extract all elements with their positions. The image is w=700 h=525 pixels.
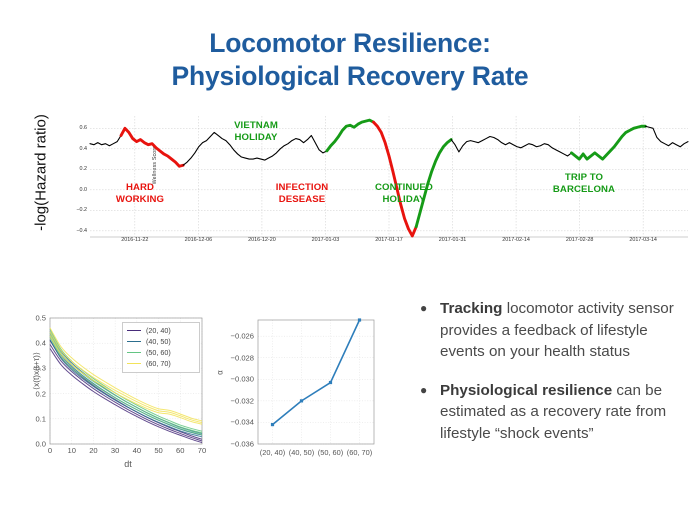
annotation-vietnam-holiday: VIETNAM HOLIDAY xyxy=(214,120,298,143)
acf-legend-item: (40, 50) xyxy=(123,336,199,347)
acf-legend-swatch xyxy=(127,330,141,332)
annotation-hard-working: HARD WORKING xyxy=(102,182,178,205)
acf-legend-label: (60, 70) xyxy=(146,359,171,368)
acf-y-tick: 0.5 xyxy=(14,314,46,323)
alpha-chart-panel: α −0.026−0.028−0.030−0.032−0.034−0.036 (… xyxy=(212,308,380,480)
alpha-y-tick: −0.028 xyxy=(212,353,254,362)
wellness-y-tick: −0.4 xyxy=(47,228,87,234)
wellness-y-tick: −0.2 xyxy=(47,207,87,213)
acf-legend-item: (20, 40) xyxy=(123,325,199,336)
bullet-marker-icon: ● xyxy=(418,298,440,363)
acf-legend-swatch xyxy=(127,363,141,365)
acf-legend-label: (40, 50) xyxy=(146,337,171,346)
annotation-continued-holiday: CONTINUED HOLIDAY xyxy=(356,182,452,205)
acf-x-tick: 0 xyxy=(38,446,62,455)
wellness-y-tick: 0.2 xyxy=(47,166,87,172)
wellness-x-tick: 2017-02-28 xyxy=(550,237,610,243)
acf-x-tick: 20 xyxy=(81,446,105,455)
wellness-x-tick: 2016-11-22 xyxy=(105,237,165,243)
bullet-lead: Tracking xyxy=(440,300,502,317)
wellness-x-tick: 2017-01-03 xyxy=(295,237,355,243)
acf-y-tick: 0.1 xyxy=(14,414,46,423)
wellness-x-tick: 2016-12-20 xyxy=(232,237,292,243)
hazard-ratio-axis-label: -log(Hazard ratio) xyxy=(33,103,50,243)
acf-y-tick: 0.3 xyxy=(14,364,46,373)
bullet-item: ● Tracking locomotor activity sensor pro… xyxy=(418,298,686,363)
autocorrelation-chart-panel: ⟨x(t)x(t+τ)⟩ dt 0.00.10.20.30.40.5 01020… xyxy=(14,308,210,480)
acf-legend: (20, 40)(40, 50)(50, 60)(60, 70) xyxy=(122,322,200,373)
alpha-y-tick: −0.030 xyxy=(212,375,254,384)
acf-x-tick: 40 xyxy=(125,446,149,455)
alpha-gridlines xyxy=(258,320,374,444)
bullet-list: ● Tracking locomotor activity sensor pro… xyxy=(418,298,686,461)
wellness-y-tick: 0.6 xyxy=(47,125,87,131)
slide-title: Locomotor Resilience: Physiological Reco… xyxy=(0,27,700,93)
wellness-chart-panel: -log(Hazard ratio) Wellness Score 0.60.4… xyxy=(18,112,690,260)
wellness-y-tick: 0.4 xyxy=(47,146,87,152)
wellness-x-tick: 2017-01-31 xyxy=(423,237,483,243)
wellness-x-tick: 2016-12-06 xyxy=(168,237,228,243)
annotation-trip-to-barcelona: TRIP TO BARCELONA xyxy=(536,172,632,195)
wellness-y-tick: 0.0 xyxy=(47,187,87,193)
alpha-line-series xyxy=(271,318,361,426)
acf-legend-swatch xyxy=(127,341,141,343)
acf-x-tick: 70 xyxy=(190,446,214,455)
bullet-item: ● Physiological resilience can be estima… xyxy=(418,380,686,445)
acf-x-tick: 50 xyxy=(147,446,171,455)
alpha-y-tick: −0.032 xyxy=(212,396,254,405)
title-line-2: Physiological Recovery Rate xyxy=(0,60,700,93)
acf-legend-label: (50, 60) xyxy=(146,348,171,357)
wellness-x-tick: 2017-02-14 xyxy=(486,237,546,243)
wellness-x-tick: 2017-01-17 xyxy=(359,237,419,243)
alpha-y-tick: −0.026 xyxy=(212,332,254,341)
acf-x-tick: 30 xyxy=(103,446,127,455)
bullet-text: Tracking locomotor activity sensor provi… xyxy=(440,298,686,363)
annotation-infection-desease: INFECTION DESEASE xyxy=(256,182,348,205)
acf-legend-swatch xyxy=(127,352,141,354)
title-line-1: Locomotor Resilience: xyxy=(0,27,700,60)
acf-legend-item: (60, 70) xyxy=(123,358,199,369)
bullet-lead: Physiological resilience xyxy=(440,382,612,399)
acf-y-tick: 0.4 xyxy=(14,339,46,348)
wellness-x-tick: 2017-03-14 xyxy=(613,237,673,243)
alpha-x-tick: (60, 70) xyxy=(337,448,383,457)
bullet-marker-icon: ● xyxy=(418,380,440,445)
bullet-text: Physiological resilience can be estimate… xyxy=(440,380,686,445)
slide-canvas: Locomotor Resilience: Physiological Reco… xyxy=(0,0,700,525)
acf-legend-label: (20, 40) xyxy=(146,326,171,335)
acf-legend-item: (50, 60) xyxy=(123,347,199,358)
alpha-frame xyxy=(258,320,374,444)
acf-x-tick: 10 xyxy=(60,446,84,455)
acf-y-tick: 0.2 xyxy=(14,389,46,398)
alpha-y-tick: −0.036 xyxy=(212,440,254,449)
alpha-y-tick: −0.034 xyxy=(212,418,254,427)
acf-x-tick: 60 xyxy=(168,446,192,455)
